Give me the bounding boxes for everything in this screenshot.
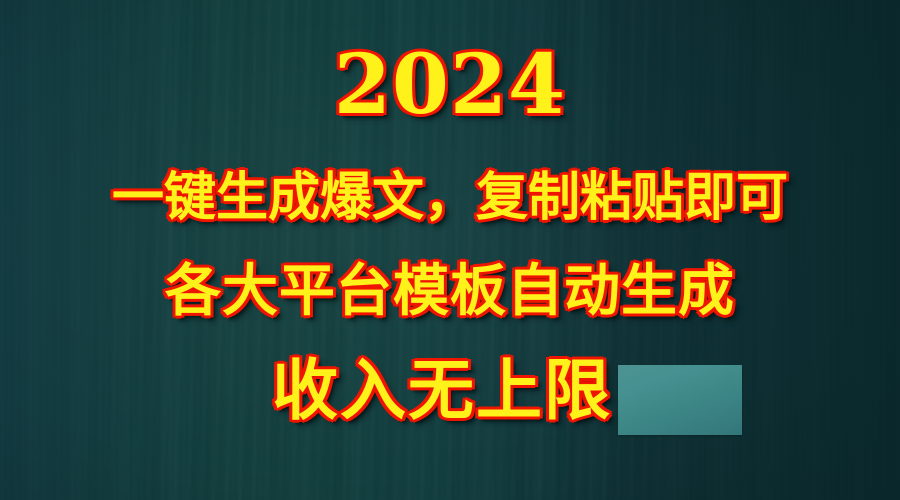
poster-text-layer: 2024 一键生成爆文，复制粘贴即可 各大平台模板自动生成 收入无上限: [0, 0, 900, 500]
poster-subhead-line-1: 一键生成爆文，复制粘贴即可: [0, 172, 900, 224]
poster-canvas: 2024 一键生成爆文，复制粘贴即可 各大平台模板自动生成 收入无上限: [0, 0, 900, 500]
poster-subhead-line-2: 各大平台模板自动生成: [0, 264, 900, 320]
poster-headline-year: 2024: [0, 44, 900, 126]
poster-subhead-line-3: 收入无上限: [0, 358, 892, 424]
